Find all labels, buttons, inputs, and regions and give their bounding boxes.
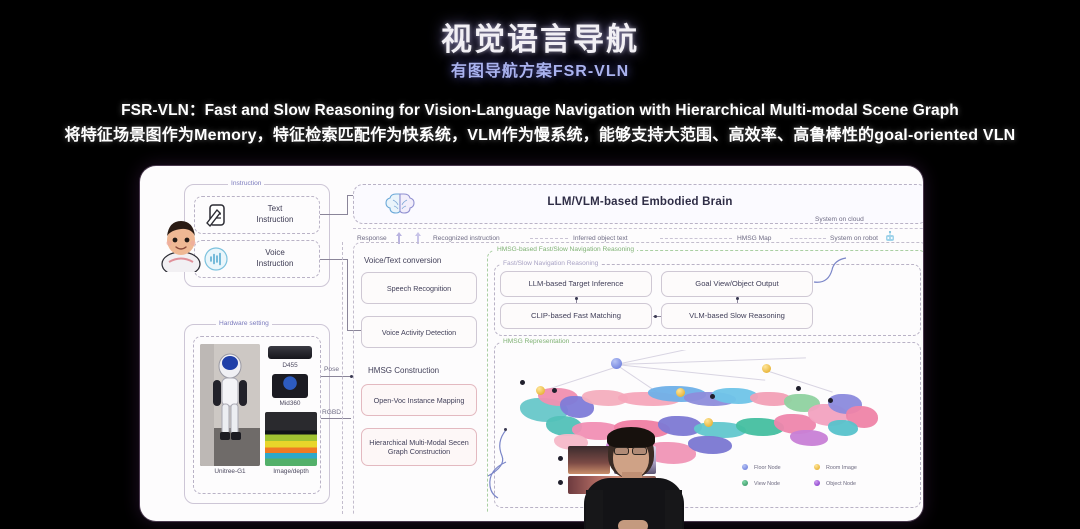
vlm-slow-reasoning-box[interactable]: VLM-based Slow Reasoning — [661, 303, 813, 329]
edge-label-pose: Pose — [324, 366, 339, 373]
depth-camera-photo — [268, 346, 312, 359]
legend-label-floor: Floor Node — [754, 465, 781, 471]
speech-recognition-box[interactable]: Speech Recognition — [361, 272, 477, 304]
flow-label-hmsgmap: HMSG Map — [737, 235, 771, 242]
graph-node-object-5 — [828, 398, 833, 403]
voice-instruction-label-2: Instruction — [257, 259, 294, 268]
flow-label-recognized: Recognized instruction — [433, 235, 500, 242]
flow-dash-2 — [660, 238, 732, 239]
humanoid-robot-photo — [200, 344, 260, 466]
hmsg-based-reasoning-title: HMSG-based Fast/Slow Navigation Reasonin… — [494, 246, 637, 253]
text-instruction-label-1: Text — [268, 204, 283, 213]
graph-node-object-4 — [796, 386, 801, 391]
graph-node-object-2 — [552, 388, 557, 393]
connector-voice-to-vad — [320, 259, 348, 260]
open-voc-instance-mapping-box[interactable]: Open-Voc Instance Mapping — [361, 384, 477, 416]
d455-caption: D455 — [268, 362, 312, 369]
voice-instruction-label-1: Voice — [265, 248, 285, 257]
graph-node-floor — [611, 358, 622, 369]
instruction-group-title: Instruction — [228, 180, 264, 187]
graph-node-room-4 — [704, 418, 713, 427]
graph-node-view-1 — [558, 456, 563, 461]
lidar-photo — [272, 374, 308, 398]
graph-node-object-3 — [710, 394, 715, 399]
user-avatar-icon — [159, 216, 203, 272]
edge-label-rgbd: RGBD — [322, 409, 341, 416]
legend-dot-room — [814, 464, 820, 470]
imagedepth-caption: Image/depth — [264, 468, 318, 475]
brain-icon — [385, 189, 415, 219]
connector-voice-v — [347, 259, 348, 331]
reasoning-to-path-curve — [812, 256, 852, 284]
connector-hw-rgbd — [321, 418, 351, 419]
paper-summary-line: 将特征场景图作为Memory，特征检索匹配作为快系统，VLM作为慢系统，能够支持… — [0, 121, 1080, 145]
slide-stage: 视觉语言导航 有图导航方案FSR-VLN FSR-VLN：Fast and Sl… — [0, 0, 1080, 529]
graph-node-room-2 — [676, 388, 685, 397]
legend-label-object: Object Node — [826, 481, 856, 487]
connector-text-to-brain-v — [347, 196, 348, 215]
hmsg-construction-box[interactable]: Hierarchical Multi-Modal Secen Graph Con… — [361, 428, 477, 466]
construction-curve-dot — [504, 428, 507, 431]
rgbd-depth-image — [265, 412, 317, 466]
reasoning-dot-mid — [654, 315, 657, 318]
robot-system-left-boundary — [342, 242, 343, 514]
connector-text-to-brain — [320, 214, 348, 215]
hmsg-representation-title: HMSG Representation — [500, 338, 572, 345]
presenter-arm-right — [665, 490, 682, 529]
reasoning-dot-left — [575, 297, 578, 300]
page-subtitle: 有图导航方案FSR-VLN — [0, 57, 1080, 81]
embodied-brain-title: LLM/VLM-based Embodied Brain — [430, 196, 850, 208]
text-instruction-label-2: Instruction — [257, 215, 294, 224]
llm-target-inference-box[interactable]: LLM-based Target Inference — [500, 271, 652, 297]
flow-label-system-on-robot: System on robot — [830, 235, 878, 242]
scene-graph-visualization: Floor Node Room Image View Node Object N… — [498, 350, 918, 500]
legend-dot-view — [742, 480, 748, 486]
legend-dot-object — [814, 480, 820, 486]
mid360-caption: Mid360 — [266, 400, 314, 407]
presenter-glasses-left — [614, 447, 629, 455]
page-title: 视觉语言导航 — [0, 14, 1080, 59]
presenter-arm-left — [586, 490, 603, 529]
presenter-hair — [607, 427, 655, 448]
fast-slow-reasoning-title: Fast/Slow Navigation Reasoning — [500, 260, 601, 267]
presenter-hands — [618, 520, 648, 529]
graph-node-view-2 — [558, 480, 563, 485]
goal-view-object-output-box[interactable]: Goal View/Object Output — [661, 271, 813, 297]
legend-label-room: Room Image — [826, 465, 857, 471]
hardware-group-title: Hardware setting — [216, 320, 272, 327]
cloud-robot-divider — [353, 228, 923, 229]
robot-caption: Unitree-G1 — [200, 468, 260, 475]
flow-dash-1 — [530, 238, 568, 239]
presenter-person — [574, 428, 694, 529]
system-on-cloud-label: System on cloud — [815, 216, 864, 223]
clip-fast-matching-box[interactable]: CLIP-based Fast Matching — [500, 303, 652, 329]
document-pen-icon — [203, 202, 229, 228]
graph-node-room-1 — [536, 386, 545, 395]
connector-hw-pose — [321, 376, 351, 377]
voice-activity-detection-box[interactable]: Voice Activity Detection — [361, 316, 477, 348]
hmsg-construction-title: HMSG Construction — [368, 366, 439, 375]
legend-label-view: View Node — [754, 481, 780, 487]
representation-to-left-curve — [480, 460, 510, 500]
voice-waveform-icon — [203, 246, 229, 272]
presenter-glasses-right — [632, 447, 647, 455]
flow-label-inferred: Inferred object text — [573, 235, 628, 242]
graph-node-room-3 — [762, 364, 771, 373]
flow-label-response: Response — [357, 235, 387, 242]
reasoning-dot-right — [736, 297, 739, 300]
flow-dash-3 — [790, 238, 826, 239]
graph-node-object-1 — [520, 380, 525, 385]
legend-dot-floor — [742, 464, 748, 470]
paper-title-line: FSR-VLN：Fast and Slow Reasoning for Visi… — [0, 98, 1080, 120]
voice-text-conversion-title: Voice/Text conversion — [364, 256, 441, 265]
architecture-diagram-board: Instruction Text Instruction Voice Inst — [140, 166, 923, 521]
